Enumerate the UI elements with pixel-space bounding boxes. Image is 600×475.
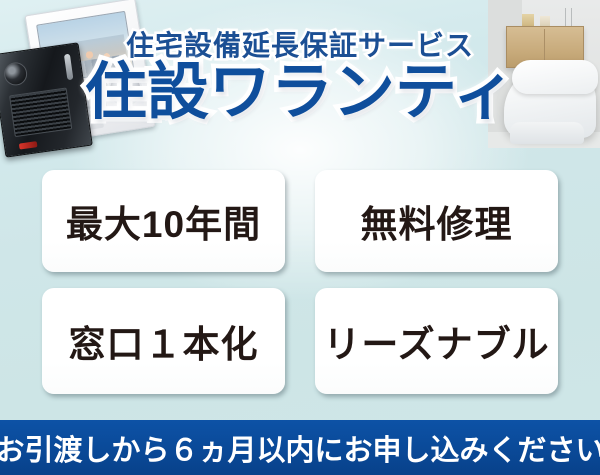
page-title: 住設ワランティ	[0, 62, 600, 124]
promo-poster: 住宅設備延長保証サービス 住設ワランティ 最大10年間 無料修理 窓口１本化 リ…	[0, 0, 600, 475]
banner-text: お引渡しから６ヵ月以内にお申し込みください	[0, 427, 600, 469]
feature-card-max-years[interactable]: 最大10年間	[42, 170, 285, 272]
feature-label: 窓口１本化	[69, 314, 259, 368]
feature-card-reasonable[interactable]: リーズナブル	[315, 288, 558, 394]
application-deadline-banner: お引渡しから６ヵ月以内にお申し込みください	[0, 420, 600, 475]
feature-label: リーズナブル	[323, 314, 549, 368]
call-button	[19, 141, 38, 149]
feature-card-free-repair[interactable]: 無料修理	[315, 170, 558, 272]
feature-card-single-contact[interactable]: 窓口１本化	[42, 288, 285, 394]
feature-label: 最大10年間	[66, 194, 261, 248]
feature-label: 無料修理	[361, 194, 513, 248]
feature-grid: 最大10年間 無料修理 窓口１本化 リーズナブル	[42, 170, 558, 394]
toilet-base	[510, 122, 584, 144]
